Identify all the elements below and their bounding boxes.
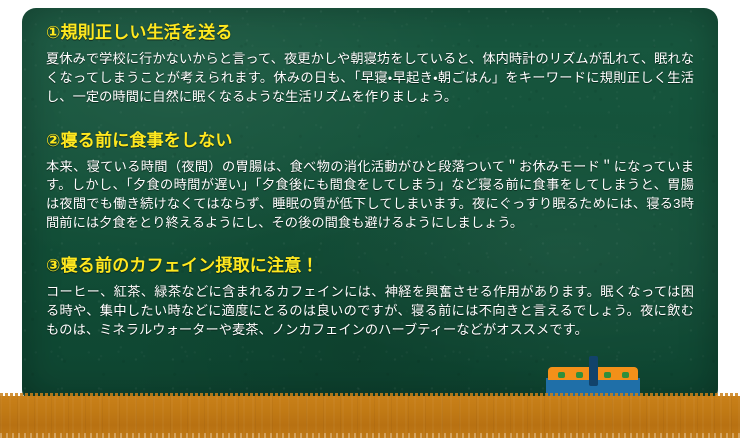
chalkboard-ledge: [0, 396, 740, 438]
eraser-dot: [576, 372, 583, 378]
eraser-dot: [558, 372, 565, 378]
section-1-heading: ①規則正しい生活を送る: [46, 22, 694, 45]
eraser-handle: [589, 356, 598, 386]
section-1-body: 夏休みで学校に行かないからと言って、夜更かしや朝寝坊をしていると、体内時計のリズ…: [46, 50, 694, 107]
section-caffeine-warning: ③寝る前のカフェイン摂取に注意！ コーヒー、紅茶、緑茶などに含まれるカフェインに…: [46, 255, 694, 340]
eraser-dot: [604, 372, 611, 378]
ledge-bottom-edge: [0, 433, 740, 438]
section-regular-lifestyle: ①規則正しい生活を送る 夏休みで学校に行かないからと言って、夜更かしや朝寝坊をし…: [46, 22, 694, 107]
section-2-heading: ②寝る前に食事をしない: [46, 130, 694, 153]
section-2-body: 本来、寝ている時間（夜間）の胃腸は、食べ物の消化活動がひと段落ついて＂お休みモー…: [46, 158, 694, 234]
chalkboard-poster: ①規則正しい生活を送る 夏休みで学校に行かないからと言って、夜更かしや朝寝坊をし…: [0, 0, 740, 438]
eraser-dot: [622, 372, 629, 378]
ledge-wood-grain: [0, 396, 740, 438]
section-no-eating-before-bed: ②寝る前に食事をしない 本来、寝ている時間（夜間）の胃腸は、食べ物の消化活動がひ…: [46, 130, 694, 233]
section-3-heading: ③寝る前のカフェイン摂取に注意！: [46, 255, 694, 278]
chalkboard-content: ①規則正しい生活を送る 夏休みで学校に行かないからと言って、夜更かしや朝寝坊をし…: [46, 22, 694, 340]
section-3-body: コーヒー、紅茶、緑茶などに含まれるカフェインには、神経を興奮させる作用があります…: [46, 283, 694, 340]
